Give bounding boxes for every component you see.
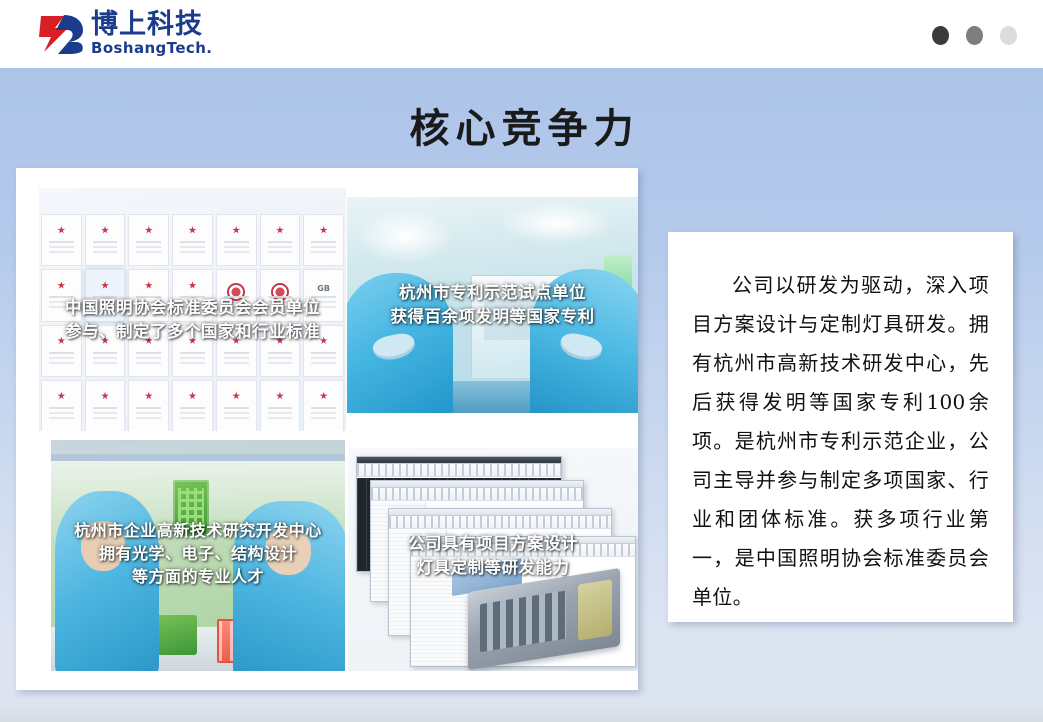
certificate-thumb <box>260 325 301 377</box>
certificate-thumb <box>172 269 213 321</box>
logo-name-en: BoshangTech. <box>91 40 212 57</box>
certificate-thumb <box>128 380 169 431</box>
certificate-thumb <box>260 380 301 431</box>
cad-titlebar <box>389 509 611 516</box>
lab-technician-right <box>233 501 345 671</box>
description-paragraph: 公司以研发为驱动，深入项目方案设计与定制灯具研发。拥有杭州市高新技术研发中心，先… <box>692 266 989 617</box>
lab-pcb-board <box>173 480 209 536</box>
collage-card: 中国照明协会标准委员会会员单位 参与、制定了多个国家和行业标准 杭州市专利示范试… <box>16 168 638 690</box>
certificate-thumb <box>128 214 169 266</box>
certificate-thumb <box>260 269 301 321</box>
cad-ribbon <box>389 516 611 529</box>
company-logo[interactable]: 博上科技 BoshangTech. <box>38 11 212 57</box>
certificate-thumb <box>41 380 82 431</box>
photo-laboratory: 杭州市企业高新技术研究开发中心 拥有光学、电子、结构设计 等方面的专业人才 <box>51 440 345 671</box>
certificate-thumb <box>85 325 126 377</box>
lab-technician-left <box>55 491 159 671</box>
certificate-thumb <box>216 214 257 266</box>
photo-certificates: 中国照明协会标准委员会会员单位 参与、制定了多个国家和行业标准 <box>39 188 346 431</box>
certificate-thumb <box>85 269 126 321</box>
certificate-thumb <box>172 325 213 377</box>
window-controls[interactable] <box>932 26 1017 45</box>
certificate-thumb <box>216 325 257 377</box>
certificate-thumb <box>41 214 82 266</box>
certificate-thumb <box>172 380 213 431</box>
window-dot-dark-icon[interactable] <box>932 26 949 45</box>
certificate-thumb <box>303 269 344 321</box>
page-header: 博上科技 BoshangTech. <box>0 0 1043 68</box>
cad-ribbon <box>357 464 561 477</box>
cleanroom-worker-left <box>347 273 453 413</box>
certificate-thumb <box>216 269 257 321</box>
certificate-thumb <box>260 214 301 266</box>
certificate-thumb <box>216 380 257 431</box>
description-panel: 公司以研发为驱动，深入项目方案设计与定制灯具研发。拥有杭州市高新技术研发中心，先… <box>668 232 1013 622</box>
logo-name-cn: 博上科技 <box>91 11 212 38</box>
cleanroom-worker-right <box>530 269 638 413</box>
certificate-grid <box>39 214 346 431</box>
photo-cleanroom: 杭州市专利示范试点单位 获得百余项发明等国家专利 <box>347 197 638 413</box>
certificate-thumb <box>41 269 82 321</box>
cad-titlebar <box>411 537 635 544</box>
certificate-thumb <box>85 214 126 266</box>
cad-titlebar <box>357 457 561 464</box>
certificate-thumb <box>41 325 82 377</box>
window-dot-light-icon[interactable] <box>1000 26 1017 45</box>
window-dot-medium-icon[interactable] <box>966 26 983 45</box>
logo-text: 博上科技 BoshangTech. <box>91 12 212 56</box>
boshang-b-logo-icon <box>38 13 84 55</box>
page-title: 核心竞争力 <box>0 96 1043 154</box>
photo-cad-design: 公司具有项目方案设计 灯具定制等研发能力 <box>348 448 638 671</box>
certificate-thumb <box>303 325 344 377</box>
certificate-thumb <box>303 380 344 431</box>
cad-titlebar <box>371 481 583 488</box>
certificate-thumb <box>85 380 126 431</box>
certificate-thumb <box>128 325 169 377</box>
certificate-thumb <box>303 214 344 266</box>
certificate-thumb <box>128 269 169 321</box>
cad-ribbon <box>411 544 635 557</box>
certificate-thumb <box>172 214 213 266</box>
slide-root: 博上科技 BoshangTech. 核心竞争力 <box>0 0 1043 722</box>
cad-ribbon <box>371 488 583 501</box>
